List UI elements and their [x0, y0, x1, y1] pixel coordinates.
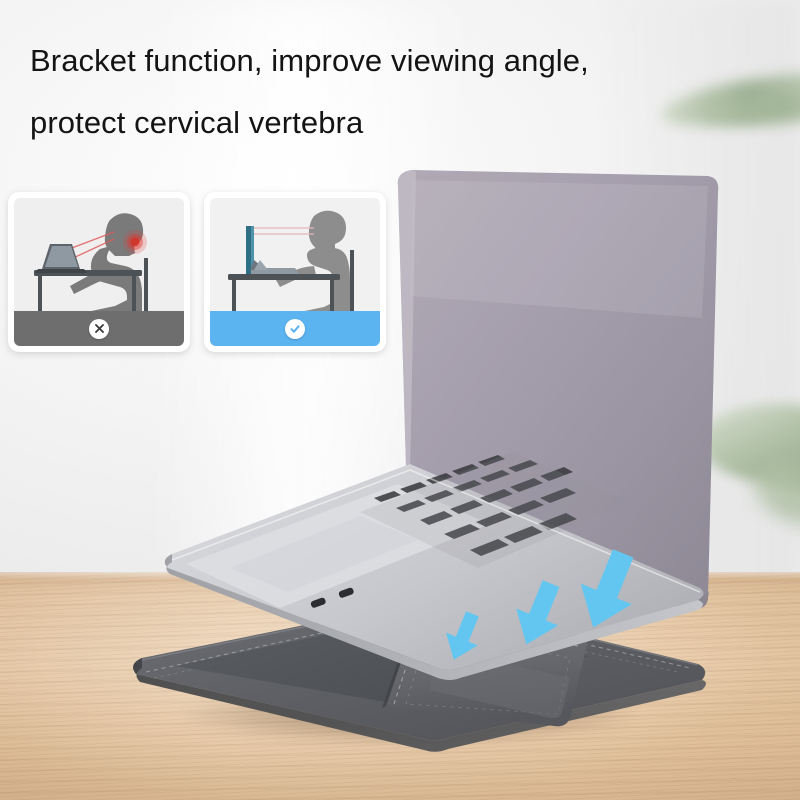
arrow-down-large-icon	[567, 543, 648, 638]
product-photo-scene	[0, 0, 800, 800]
laptop-lid-sheen	[410, 180, 708, 318]
arrow-down-small-icon	[438, 607, 488, 666]
product-marketing-image: Bracket function, improve viewing angle,…	[0, 0, 800, 800]
fold-down-arrows	[440, 548, 670, 688]
arrow-down-medium-icon	[505, 575, 571, 653]
